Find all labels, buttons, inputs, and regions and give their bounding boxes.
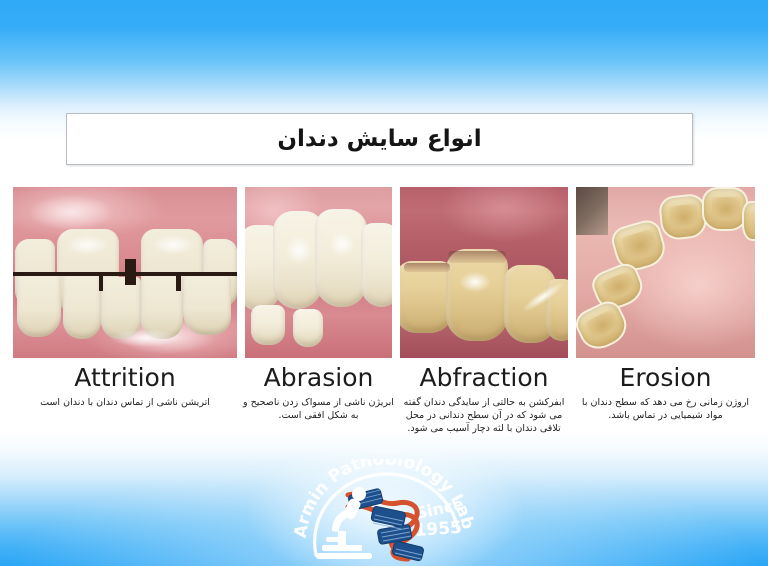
- photo-strip: [0, 187, 768, 358]
- card-abfraction: Abfraction ابفرکشن به حالتی از سایدگی دن…: [398, 363, 570, 435]
- interdental-gap-right: [176, 275, 181, 291]
- photo-abfraction: [400, 187, 568, 358]
- photo-abrasion: [245, 187, 392, 358]
- card-description-erosion: اروژن زمانی رخ می دهد که سطح دندان با مو…: [574, 396, 757, 422]
- tooth-adjacent-right: [361, 223, 392, 307]
- interdental-gap-midline: [125, 259, 136, 285]
- photo-attrition-content: [13, 187, 237, 358]
- dentin-cup-3: [712, 197, 740, 221]
- tooth-lower-left-central: [63, 275, 101, 339]
- slide-canvas: انواع سایش دندان: [0, 0, 768, 566]
- gingiva-highlight-upper: [26, 194, 116, 232]
- tooth-lower-left-abraded: [251, 305, 285, 345]
- card-title-abrasion: Abrasion: [241, 363, 396, 393]
- photo-erosion-content: [576, 187, 755, 358]
- dentin-cup-4: [601, 271, 637, 303]
- tooth-lower-left: [17, 275, 61, 337]
- retractor-shadow: [576, 187, 608, 235]
- card-title-erosion: Erosion: [574, 363, 757, 393]
- cervical-wedge-lesion-2: [404, 263, 450, 272]
- logo-since-year: 1955: [414, 518, 463, 541]
- cervical-wedge-lesion: [448, 251, 506, 263]
- card-abrasion: Abrasion ابریژن ناشی از مسواک زدن ناصحیح…: [241, 363, 396, 422]
- tooth-lower-right-abraded: [293, 309, 323, 347]
- enamel-shine-1: [285, 235, 313, 265]
- dentin-cup-1: [621, 229, 659, 263]
- photo-erosion: [576, 187, 755, 358]
- card-title-abfraction: Abfraction: [398, 363, 570, 393]
- enamel-shine-2: [329, 231, 355, 257]
- tooth-eroded-6: [742, 201, 755, 241]
- card-erosion: Erosion اروژن زمانی رخ می دهد که سطح دند…: [574, 363, 757, 422]
- interdental-gap-left: [99, 275, 103, 291]
- caption-row: Attrition اتریشن ناشی از تماس دندان با د…: [0, 363, 768, 463]
- page-title: انواع سایش دندان: [277, 126, 481, 152]
- card-attrition: Attrition اتریشن ناشی از تماس دندان با د…: [13, 363, 237, 409]
- card-description-abrasion: ابریژن ناشی از مسواک زدن ناصحیح و به شکل…: [241, 396, 396, 422]
- tooth-lower-right-central: [101, 277, 141, 339]
- card-description-abfraction: ابفرکشن به حالتی از سایدگی دندان گفته می…: [398, 396, 570, 435]
- tooth-lower-far-right: [183, 275, 231, 335]
- card-description-attrition: اتریشن ناشی از تماس دندان با دندان است: [13, 396, 237, 409]
- title-box: انواع سایش دندان: [66, 113, 693, 165]
- photo-abfraction-content: [400, 187, 568, 358]
- photo-attrition: [13, 187, 237, 358]
- card-title-attrition: Attrition: [13, 363, 237, 393]
- dentin-cup-5: [585, 309, 622, 342]
- tooth-central-incisor: [315, 209, 367, 307]
- enamel-shine-1: [458, 271, 492, 293]
- dentin-cup-2: [669, 203, 699, 230]
- photo-abrasion-content: [245, 187, 392, 358]
- company-logo: Armin Pathobiology Lab Since 1955: [286, 459, 484, 563]
